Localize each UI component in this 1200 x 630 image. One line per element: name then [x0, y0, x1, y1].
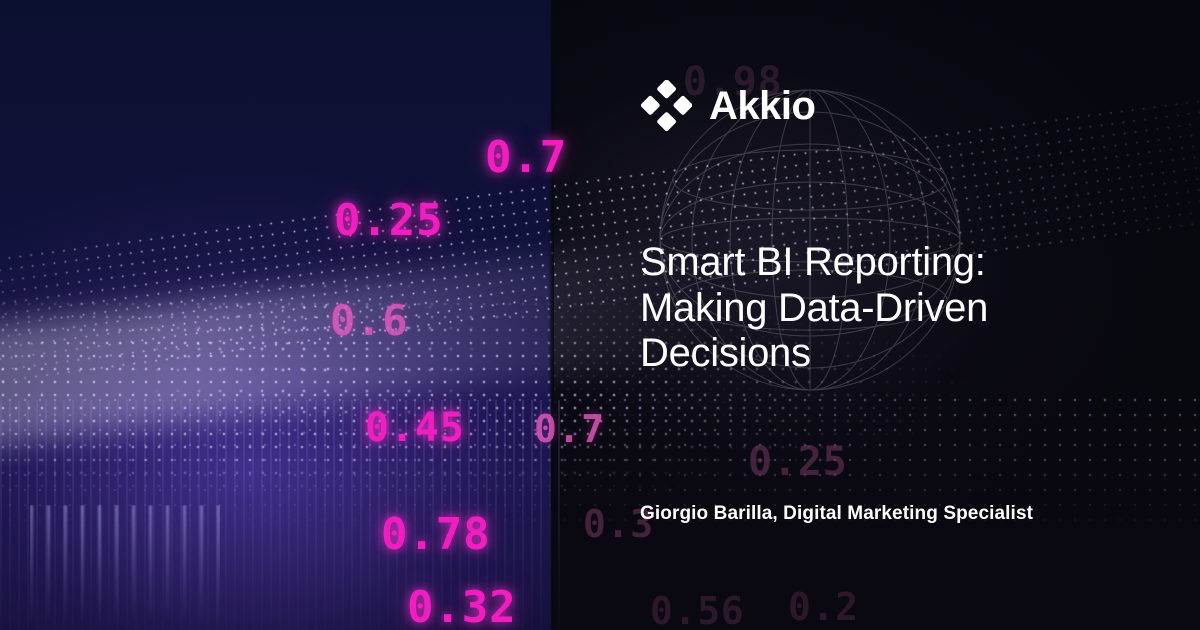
page-title: Smart BI Reporting: Making Data-Driven D… [640, 240, 1070, 377]
panel-divider [548, 0, 554, 630]
brand-name: Akkio [709, 84, 815, 129]
social-share-card: 0.980.70.250.60.450.70.250.780.30.320.56… [0, 0, 1200, 630]
brand-lockup[interactable]: Akkio [640, 80, 815, 132]
card-content: Akkio Smart BI Reporting: Making Data-Dr… [640, 0, 1160, 630]
akkio-diamond-logo-icon [640, 80, 692, 132]
vertical-streaks-bright [30, 505, 220, 625]
author-byline: Giorgio Barilla, Digital Marketing Speci… [640, 503, 1110, 525]
